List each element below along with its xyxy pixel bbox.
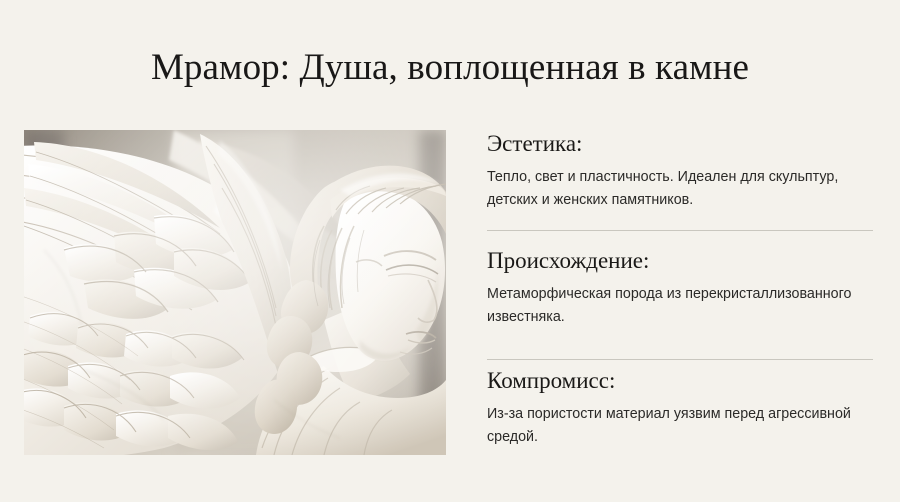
section-divider: [487, 230, 873, 231]
feature-list: Эстетика: Тепло, свет и пластичность. Ид…: [487, 130, 873, 470]
section-origin: Происхождение: Метаморфическая порода из…: [487, 247, 873, 328]
marble-angel-sculpture-image: [24, 130, 446, 455]
section-heading: Происхождение:: [487, 247, 873, 274]
section-body: Метаморфическая порода из перекристаллиз…: [487, 283, 859, 328]
section-body: Тепло, свет и пластичность. Идеален для …: [487, 166, 859, 211]
section-heading: Эстетика:: [487, 130, 873, 157]
slide-canvas: Мрамор: Душа, воплощенная в камне: [0, 0, 900, 502]
section-tradeoff: Компромисс: Из-за пористости материал уя…: [487, 367, 873, 448]
section-divider: [487, 359, 873, 360]
marble-angel-illustration: [24, 130, 446, 455]
section-body: Из-за пористости материал уязвим перед а…: [487, 403, 859, 448]
page-title: Мрамор: Душа, воплощенная в камне: [0, 46, 900, 89]
section-heading: Компромисс:: [487, 367, 873, 394]
section-aesthetics: Эстетика: Тепло, свет и пластичность. Ид…: [487, 130, 873, 211]
